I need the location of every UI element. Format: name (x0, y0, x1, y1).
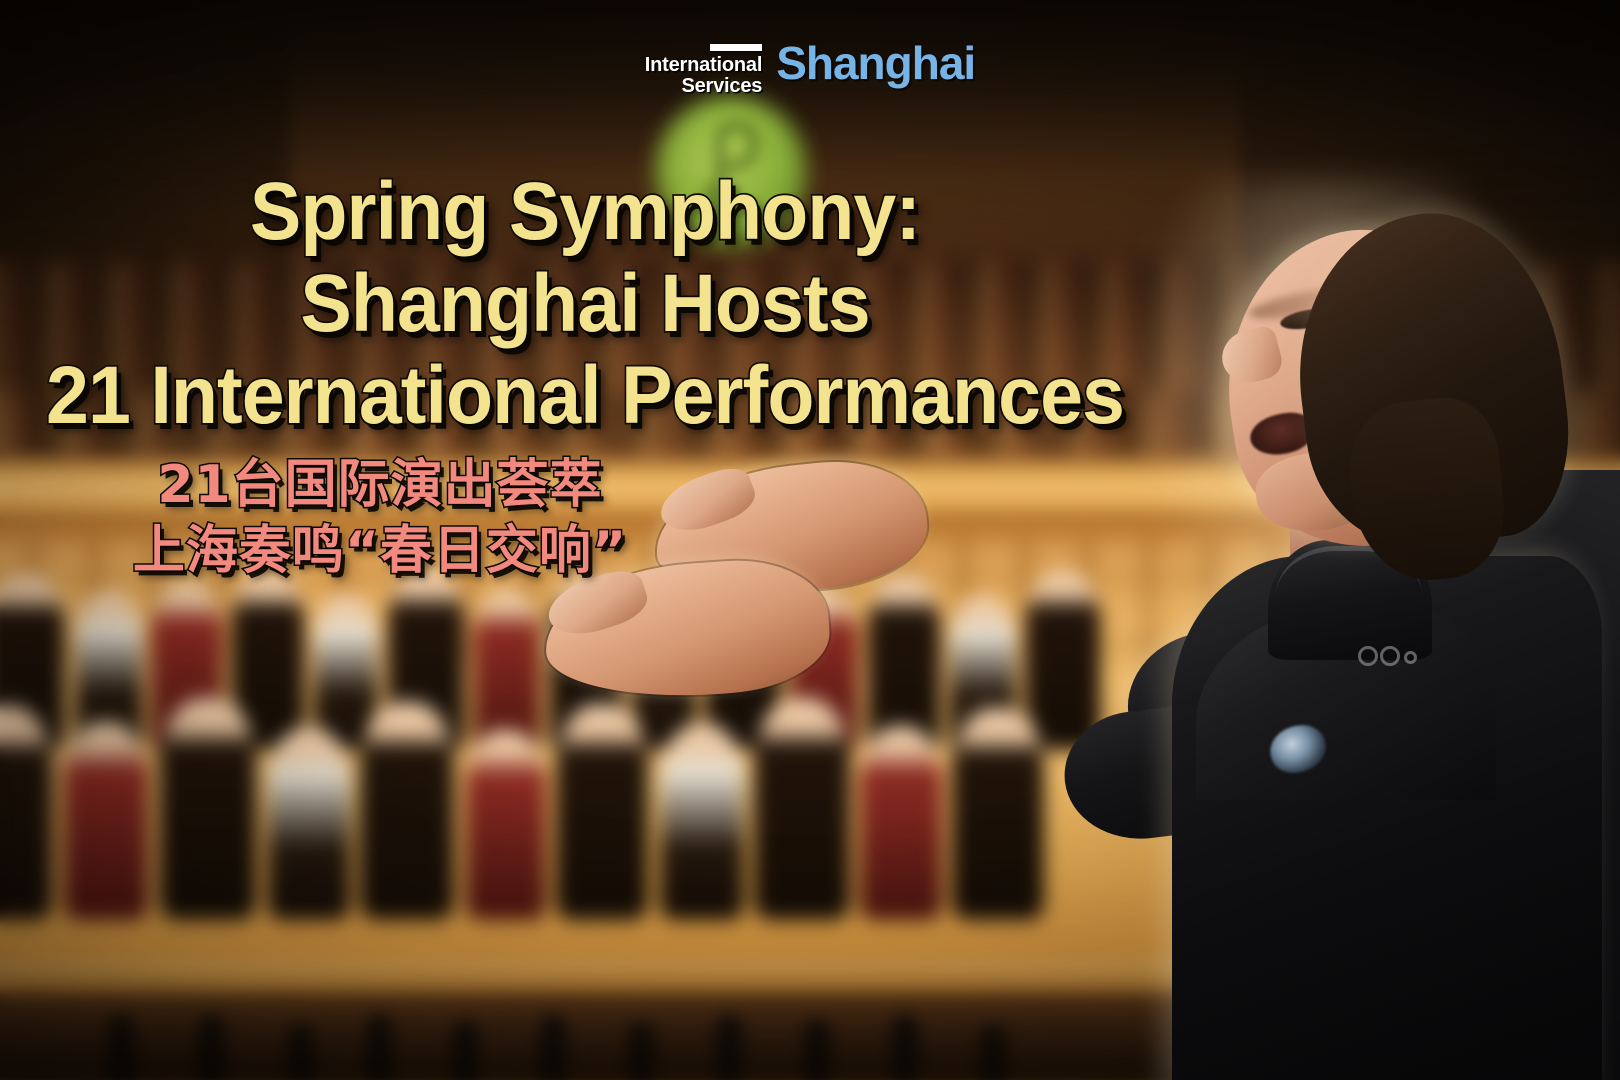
conductor-hand-lower (545, 564, 855, 720)
philharmonic-logo-glyph-icon (690, 118, 776, 222)
conductor-figure (1000, 0, 1620, 1080)
sleeve-emblem-icon (1358, 644, 1430, 670)
poster-canvas: International Services Shanghai Spring S… (0, 0, 1620, 1080)
